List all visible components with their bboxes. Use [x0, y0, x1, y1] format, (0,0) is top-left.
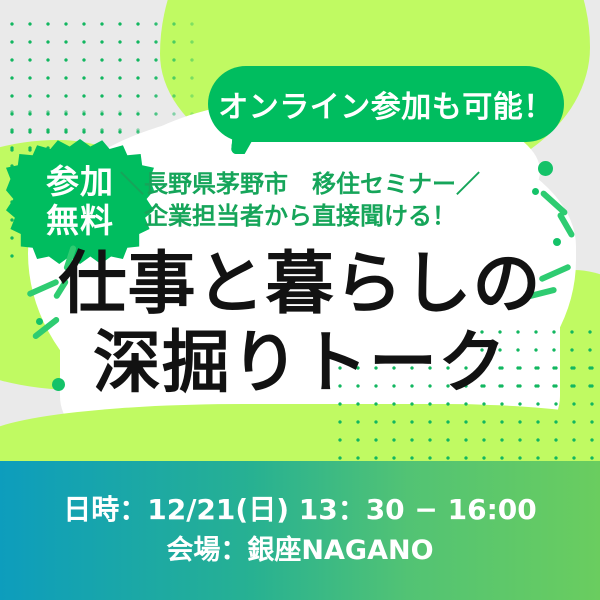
bubble-label: オンライン参加も可能！ — [218, 82, 554, 126]
subtitle-line-2: 企業担当者から直接聞ける！ — [0, 200, 600, 232]
event-datetime: 日時：12/21(日) 13：30 − 16:00 — [63, 489, 537, 531]
subtitle-line-1: ＼長野県茅野市 移住セミナー／ — [0, 168, 600, 200]
online-participation-bubble: オンライン参加も可能！ — [208, 66, 564, 142]
title-line-2: 深掘りトーク — [0, 325, 600, 404]
spark-dot-right-3 — [553, 238, 561, 246]
main-title-block: 仕事と暮らしの 深掘りトーク — [0, 246, 600, 404]
spark-dot-right-2 — [532, 188, 539, 195]
title-line-1: 仕事と暮らしの — [0, 246, 600, 325]
spark-dot-right-1 — [538, 161, 553, 176]
event-details-bar: 日時：12/21(日) 13：30 − 16:00 会場：銀座NAGANO — [0, 461, 600, 600]
event-poster: オンライン参加も可能！ 参加 無料 ＼長野県茅野市 移住セミナー／ 企業担当者か… — [0, 0, 600, 600]
event-venue: 会場：銀座NAGANO — [166, 531, 433, 572]
subtitle-block: ＼長野県茅野市 移住セミナー／ 企業担当者から直接聞ける！ — [0, 168, 600, 232]
